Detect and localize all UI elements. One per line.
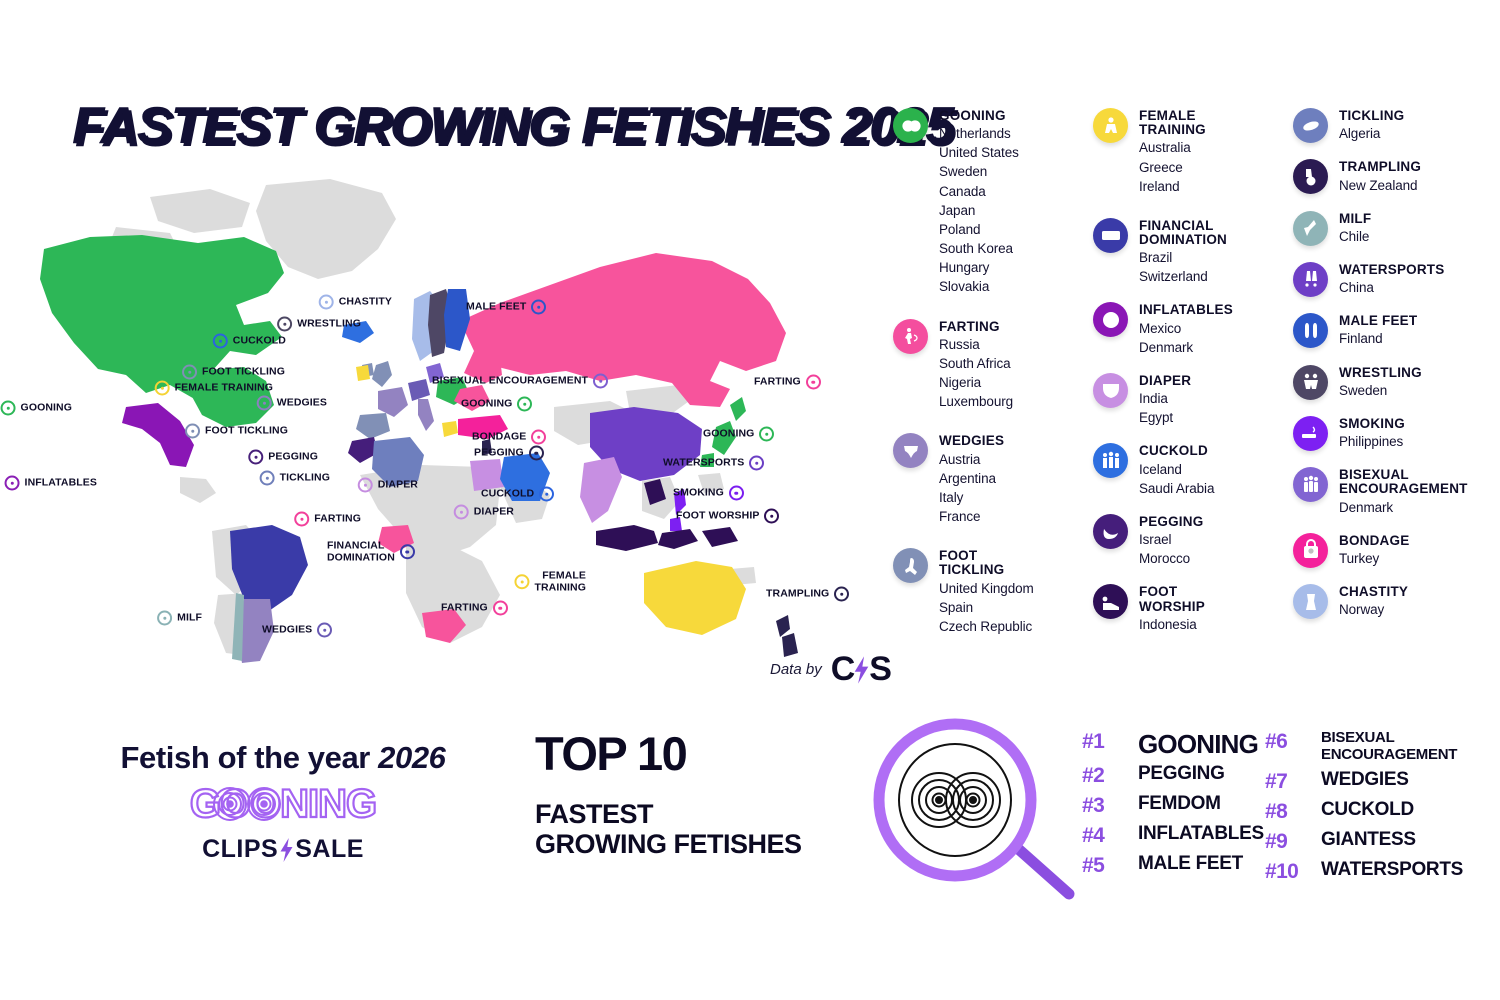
foot-worship-icon (1093, 584, 1128, 619)
map-label-text: DIAPER (474, 506, 514, 518)
ranking-label: GOONING (1138, 730, 1258, 759)
data-by-credit: Data by C S (770, 650, 891, 689)
map-pin-icon (317, 623, 332, 638)
legend-item-male-feet: MALE FEETFinland (1293, 313, 1493, 348)
fetish-of-the-year-block: Fetish of the year 2026 GOONING CLIPS SA… (48, 740, 518, 864)
map-pin-icon (358, 478, 373, 493)
ranking-row: #1GOONING (1082, 730, 1264, 759)
milf-icon (1293, 211, 1328, 246)
legend-item-body: SMOKINGPhilippines (1339, 416, 1405, 451)
map-pin-icon (759, 427, 774, 442)
legend-item-body: FARTINGRussiaSouth AfricaNigeriaLuxembou… (939, 319, 1013, 412)
map-label-text: FARTING (441, 602, 488, 614)
legend-item-countries: IcelandSaudi Arabia (1139, 460, 1214, 498)
lightning-bolt-icon (853, 656, 870, 684)
map-pin-icon (248, 450, 263, 465)
financial-domination-icon (1093, 218, 1128, 253)
foty-headline-year: 2026 (378, 740, 445, 775)
legend-country: Hungary (939, 258, 1019, 277)
map-pin-icon (749, 456, 764, 471)
legend-country: Sweden (1339, 381, 1422, 400)
smoking-icon (1293, 416, 1328, 451)
legend-country: Morocco (1139, 549, 1203, 568)
cuckold-icon (1093, 443, 1128, 478)
legend-item-countries: IsraelMorocco (1139, 530, 1203, 568)
legend-country: Ireland (1139, 177, 1206, 196)
legend-item-body: FOOTTICKLINGUnited KingdomSpainCzech Rep… (939, 548, 1034, 636)
ranking-number: #3 (1082, 794, 1124, 818)
inflatables-icon (1093, 302, 1128, 337)
magnifier-icon (855, 718, 1085, 908)
legend-item-bondage: BONDAGETurkey (1293, 533, 1493, 568)
legend-item-body: PEGGINGIsraelMorocco (1139, 514, 1203, 568)
legend-item-body: WEDGIESAustriaArgentinaItalyFrance (939, 433, 1004, 526)
top10-title: TOP 10 (535, 730, 802, 777)
map-label: FOOT TICKLING (182, 365, 285, 380)
region-mexico-inflatables (122, 403, 194, 467)
foty-headline-plain: Fetish of the year (120, 740, 378, 775)
map-pin-icon (593, 374, 608, 389)
pegging-icon (1093, 514, 1128, 549)
c4s-right: S (869, 650, 891, 689)
map-pin-icon (185, 424, 200, 439)
data-by-label: Data by (770, 661, 822, 678)
map-label: TICKLING (260, 471, 330, 486)
legend-item-countries: IndiaEgypt (1139, 389, 1191, 427)
ranking-number: #6 (1265, 730, 1307, 754)
legend-item-smoking: SMOKINGPhilippines (1293, 416, 1493, 451)
map-label: GOONING (1, 401, 72, 416)
legend-column-2: FEMALETRAININGAustraliaGreeceIrelandFINA… (1093, 108, 1283, 650)
map-pin-icon (400, 545, 415, 560)
legend-item-countries: Sweden (1339, 381, 1422, 400)
legend-item-title: BONDAGE (1339, 534, 1409, 548)
legend-item-title: PEGGING (1139, 515, 1203, 529)
legend-item-wedgies: WEDGIESAustriaArgentinaItalyFrance (893, 433, 1083, 526)
legend-item-title: INFLATABLES (1139, 303, 1233, 317)
map-label-text: MILF (177, 612, 202, 624)
svg-text:GOONING: GOONING (190, 782, 376, 826)
map-label-text: FOOT WORSHIP (676, 510, 759, 522)
legend-item-title: WATERSPORTS (1339, 263, 1444, 277)
legend-country: Turkey (1339, 549, 1409, 568)
legend-country: Greece (1139, 158, 1206, 177)
legend-item-countries: Chile (1339, 227, 1371, 246)
clips4sale-logo: CLIPS SALE (48, 835, 518, 864)
legend-country: Argentina (939, 469, 1004, 488)
map-pin-icon (493, 601, 508, 616)
map-label: MALE FEET (466, 300, 546, 315)
legend-country: Indonesia (1139, 615, 1205, 634)
legend-country: Chile (1339, 227, 1371, 246)
map-pin-icon (277, 317, 292, 332)
legend-country: Poland (939, 220, 1019, 239)
region-finland-malefeet (444, 289, 470, 351)
legend-country: Iceland (1139, 460, 1214, 479)
legend-item-title: TICKLING (1339, 109, 1404, 123)
legend-item-countries: NetherlandsUnited StatesSwedenCanadaJapa… (939, 124, 1019, 296)
map-label: FARTING (754, 375, 821, 390)
ranking-label: GIANTESS (1321, 830, 1416, 851)
ranking-row: #6BISEXUALENCOURAGEMENT (1265, 730, 1463, 764)
legend-item-foot-tickling: FOOTTICKLINGUnited KingdomSpainCzech Rep… (893, 548, 1083, 636)
legend-country: Slovakia (939, 277, 1019, 296)
ranking-label: CUCKOLD (1321, 800, 1414, 821)
map-pin-icon (529, 446, 544, 461)
map-label-text: TICKLING (280, 472, 330, 484)
map-label-text: FOOT TICKLING (202, 366, 285, 378)
legend-item-countries: Philippines (1339, 432, 1405, 451)
ranking-label: WATERSPORTS (1321, 860, 1463, 881)
legend-item-body: FOOTWORSHIPIndonesia (1139, 584, 1205, 634)
region-ireland-female-training (356, 365, 370, 381)
map-label: FOOT WORSHIP (676, 509, 779, 524)
legend-country: Czech Republic (939, 617, 1034, 636)
legend-country: United States (939, 143, 1019, 162)
map-pin-icon (729, 486, 744, 501)
bondage-icon (1293, 533, 1328, 568)
gooning-outline-text: GOONING (159, 781, 407, 829)
map-pin-icon (834, 587, 849, 602)
map-label: GOONING (461, 397, 532, 412)
map-pin-icon (764, 509, 779, 524)
ranking-label: FEMDOM (1138, 794, 1221, 815)
map-label-text: WRESTLING (297, 318, 361, 330)
legend-item-body: FEMALETRAININGAustraliaGreeceIreland (1139, 108, 1206, 196)
ranking-label: MALE FEET (1138, 854, 1243, 875)
legend-country: Mexico (1139, 319, 1233, 338)
ranking-number: #7 (1265, 770, 1307, 794)
map-pin-icon (294, 512, 309, 527)
diaper-icon (1093, 373, 1128, 408)
legend-item-milf: MILFChile (1293, 211, 1493, 246)
ranking-number: #1 (1082, 730, 1124, 754)
male-feet-icon (1293, 313, 1328, 348)
ranking-number: #8 (1265, 800, 1307, 824)
map-label-text: CUCKOLD (233, 335, 286, 347)
legend-item-trampling: TRAMPLINGNew Zealand (1293, 159, 1493, 194)
map-label: FOOT TICKLING (185, 424, 288, 439)
top10-heading-block: TOP 10 FASTEST GROWING FETISHES (535, 730, 802, 859)
map-label-text: CHASTITY (339, 296, 392, 308)
map-label-text: FINANCIALDOMINATION (327, 540, 395, 564)
top10-subtitle: FASTEST GROWING FETISHES (535, 799, 802, 859)
legend-item-cuckold: CUCKOLDIcelandSaudi Arabia (1093, 443, 1283, 497)
ranking-number: #5 (1082, 854, 1124, 878)
map-pin-icon (155, 381, 170, 396)
top10-ranking-left: #1GOONING#2PEGGING#3FEMDOM#4INFLATABLES#… (1082, 730, 1264, 884)
legend-country: Finland (1339, 329, 1417, 348)
map-pin-icon (5, 476, 20, 491)
ranking-number: #4 (1082, 824, 1124, 848)
map-label-text: FOOT TICKLING (205, 425, 288, 437)
c4s-left: C (831, 650, 855, 689)
foot-tickling-icon (893, 548, 928, 583)
map-label-text: WEDGIES (277, 397, 327, 409)
legend-country: India (1139, 389, 1191, 408)
map-label-text: FEMALE TRAINING (175, 382, 273, 394)
map-label-text: FARTING (314, 513, 361, 525)
ranking-label: BISEXUALENCOURAGEMENT (1321, 730, 1457, 764)
legend-item-countries: Denmark (1339, 498, 1468, 517)
map-label-text: WATERSPORTS (663, 457, 744, 469)
region-greece-female-training (442, 421, 458, 437)
legend-item-body: CHASTITYNorway (1339, 584, 1408, 619)
legend-country: South Africa (939, 354, 1013, 373)
legend-item-body: INFLATABLESMexicoDenmark (1139, 302, 1233, 356)
legend-item-body: TRAMPLINGNew Zealand (1339, 159, 1421, 194)
map-label-text: GOONING (21, 402, 72, 414)
legend-country: Canada (939, 182, 1019, 201)
legend-item-body: DIAPERIndiaEgypt (1139, 373, 1191, 427)
map-label: WEDGIES (262, 623, 332, 638)
map-label-text: WEDGIES (262, 624, 312, 636)
bisexual-encouragement-icon (1293, 467, 1328, 502)
legend-column-3: TICKLINGAlgeriaTRAMPLINGNew ZealandMILFC… (1293, 108, 1493, 635)
watersports-icon (1293, 262, 1328, 297)
legend-country: France (939, 507, 1004, 526)
legend-item-body: WRESTLINGSweden (1339, 365, 1422, 400)
wrestling-icon (1293, 365, 1328, 400)
map-label: FARTING (441, 601, 508, 616)
gooning-icon (893, 108, 928, 143)
map-pin-icon (157, 611, 172, 626)
top10-ranking-right: #6BISEXUALENCOURAGEMENT#7WEDGIES#8CUCKOL… (1265, 730, 1463, 890)
top10-subtitle-line2: GROWING FETISHES (535, 829, 802, 859)
ranking-row: #3FEMDOM (1082, 794, 1264, 818)
legend-item-farting: FARTINGRussiaSouth AfricaNigeriaLuxembou… (893, 319, 1083, 412)
trampling-icon (1293, 159, 1328, 194)
legend-item-title: TRAMPLING (1339, 160, 1421, 174)
map-label: GOONING (703, 427, 774, 442)
map-label-text: GOONING (461, 398, 512, 410)
ranking-number: #10 (1265, 860, 1307, 884)
map-label: TRAMPLING (766, 587, 849, 602)
map-label-text: PEGGING (268, 451, 318, 463)
legend-country: New Zealand (1339, 176, 1421, 195)
legend-country: Norway (1339, 600, 1408, 619)
legend-item-title: WRESTLING (1339, 366, 1422, 380)
legend-item-countries: RussiaSouth AfricaNigeriaLuxembourg (939, 335, 1013, 412)
map-label: WATERSPORTS (663, 456, 764, 471)
legend-item-wrestling: WRESTLINGSweden (1293, 365, 1493, 400)
top10-subtitle-line1: FASTEST (535, 799, 802, 829)
legend-item-title: FOOTTICKLING (939, 549, 1034, 577)
map-pin-icon (539, 487, 554, 502)
ranking-row: #7WEDGIES (1265, 770, 1463, 794)
map-label: WEDGIES (257, 396, 327, 411)
map-label: CUCKOLD (213, 334, 286, 349)
map-label: PEGGING (474, 446, 544, 461)
legend-item-countries: BrazilSwitzerland (1139, 248, 1227, 286)
legend-country: Egypt (1139, 408, 1191, 427)
farting-icon (893, 319, 928, 354)
world-map-svg (30, 175, 870, 665)
legend-country: Denmark (1139, 338, 1233, 357)
legend-item-title: BISEXUALENCOURAGEMENT (1339, 468, 1468, 496)
ranking-row: #8CUCKOLD (1265, 800, 1463, 824)
legend-item-countries: United KingdomSpainCzech Republic (939, 579, 1034, 636)
map-label: INFLATABLES (5, 476, 97, 491)
region-spain-foot-tickling (356, 413, 390, 439)
legend-item-title: WEDGIES (939, 434, 1004, 448)
legend-item-pegging: PEGGINGIsraelMorocco (1093, 514, 1283, 568)
map-label: MILF (157, 611, 202, 626)
map-pin-icon (531, 430, 546, 445)
map-label: PEGGING (248, 450, 318, 465)
legend-item-title: MALE FEET (1339, 314, 1417, 328)
legend-column-1: GOONINGNetherlandsUnited StatesSwedenCan… (893, 108, 1083, 658)
legend-item-watersports: WATERSPORTSChina (1293, 262, 1493, 297)
ranking-number: #2 (1082, 764, 1124, 788)
legend-item-title: FOOTWORSHIP (1139, 585, 1205, 613)
legend-item-body: BONDAGETurkey (1339, 533, 1409, 568)
map-pin-icon (213, 334, 228, 349)
legend-item-countries: Indonesia (1139, 615, 1205, 634)
legend-item-title: CUCKOLD (1139, 444, 1214, 458)
region-australia-female-training (644, 561, 746, 635)
legend-item-countries: Turkey (1339, 549, 1409, 568)
legend-country: Algeria (1339, 124, 1404, 143)
legend-item-title: FEMALETRAINING (1139, 109, 1206, 137)
legend-item-title: DIAPER (1139, 374, 1191, 388)
legend-country: Luxembourg (939, 392, 1013, 411)
legend-item-diaper: DIAPERIndiaEgypt (1093, 373, 1283, 427)
legend-country: Nigeria (939, 373, 1013, 392)
legend-country: Japan (939, 201, 1019, 220)
legend-item-body: CUCKOLDIcelandSaudi Arabia (1139, 443, 1214, 497)
legend-item-countries: AustriaArgentinaItalyFrance (939, 450, 1004, 527)
map-pin-icon (257, 396, 272, 411)
legend-country: Australia (1139, 138, 1206, 157)
map-pin-icon (1, 401, 16, 416)
map-label-text: BISEXUAL ENCOURAGEMENT (432, 375, 588, 387)
legend-item-title: CHASTITY (1339, 585, 1408, 599)
map-pin-icon (517, 397, 532, 412)
ranking-label: INFLATABLES (1138, 824, 1264, 845)
legend-item-body: WATERSPORTSChina (1339, 262, 1444, 297)
legend-country: United Kingdom (939, 579, 1034, 598)
map-label-text: GOONING (703, 428, 754, 440)
region-central-europe (408, 379, 430, 401)
legend-country: Denmark (1339, 498, 1468, 517)
clips-logo-right: SALE (295, 835, 364, 864)
map-label-text: CUCKOLD (481, 488, 534, 500)
legend-item-body: GOONINGNetherlandsUnited StatesSwedenCan… (939, 108, 1019, 297)
legend-item-title: SMOKING (1339, 417, 1405, 431)
map-pin-icon (806, 375, 821, 390)
map-label-text: PEGGING (474, 447, 524, 459)
map-label-text: FARTING (754, 376, 801, 388)
legend-item-female-training: FEMALETRAININGAustraliaGreeceIreland (1093, 108, 1283, 196)
legend-item-foot-worship: FOOTWORSHIPIndonesia (1093, 584, 1283, 634)
region-gooning-green (40, 235, 284, 427)
legend-item-bisexual-encouragement: BISEXUALENCOURAGEMENTDenmark (1293, 467, 1493, 517)
ranking-label: WEDGIES (1321, 770, 1409, 791)
legend-country: Austria (939, 450, 1004, 469)
legend-country: Sweden (939, 162, 1019, 181)
map-label: SMOKING (673, 486, 744, 501)
map-label-text: INFLATABLES (25, 477, 97, 489)
legend-item-countries: China (1339, 278, 1444, 297)
map-label: BONDAGE (472, 430, 546, 445)
legend-item-body: TICKLINGAlgeria (1339, 108, 1404, 143)
world-map: GOONINGINFLATABLESMILFWEDGIESFINANCIALDO… (30, 175, 870, 665)
legend-item-countries: MexicoDenmark (1139, 319, 1233, 357)
legend-country: Brazil (1139, 248, 1227, 267)
legend-country: Russia (939, 335, 1013, 354)
map-label-text: SMOKING (673, 487, 724, 499)
legend-item-countries: Algeria (1339, 124, 1404, 143)
tickling-icon (1293, 108, 1328, 143)
ranking-row: #5MALE FEET (1082, 854, 1264, 878)
legend-country: Italy (939, 488, 1004, 507)
wedgies-icon (893, 433, 928, 468)
map-label: WRESTLING (277, 317, 361, 332)
clips4sale-mark: C S (831, 650, 891, 689)
ranking-row: #4INFLATABLES (1082, 824, 1264, 848)
region-italy-wedgies (418, 399, 434, 431)
chastity-icon (1293, 584, 1328, 619)
legend-country: China (1339, 278, 1444, 297)
map-label: FINANCIALDOMINATION (327, 540, 415, 564)
clips-logo-left: CLIPS (202, 835, 278, 864)
infographic-canvas: FASTEST GROWING FETISHES 2025 (0, 0, 1500, 1000)
legend-item-gooning: GOONINGNetherlandsUnited StatesSwedenCan… (893, 108, 1083, 297)
map-label: DIAPER (454, 505, 514, 520)
ranking-label: PEGGING (1138, 764, 1225, 785)
map-label: FEMALETRAINING (514, 570, 586, 594)
map-label-text: DIAPER (378, 479, 418, 491)
legend-country: Spain (939, 598, 1034, 617)
map-pin-icon (260, 471, 275, 486)
legend-item-chastity: CHASTITYNorway (1293, 584, 1493, 619)
region-india-diaper (580, 457, 622, 523)
legend-country: Israel (1139, 530, 1203, 549)
legend-item-title: FARTING (939, 320, 1013, 334)
legend-item-title: GOONING (939, 109, 1019, 123)
legend-country: Philippines (1339, 432, 1405, 451)
region-france-wedgies (378, 387, 408, 417)
legend-item-inflatables: INFLATABLESMexicoDenmark (1093, 302, 1283, 356)
map-label-text: TRAMPLING (766, 588, 829, 600)
legend-country: Switzerland (1139, 267, 1227, 286)
legend-item-tickling: TICKLINGAlgeria (1293, 108, 1493, 143)
map-label: FARTING (294, 512, 361, 527)
fetish-of-the-year-headline: Fetish of the year 2026 (48, 740, 518, 776)
legend-country: South Korea (939, 239, 1019, 258)
map-pin-icon (514, 575, 529, 590)
map-pin-icon (319, 295, 334, 310)
legend-item-title: FINANCIALDOMINATION (1139, 219, 1227, 247)
map-label: FEMALE TRAINING (155, 381, 273, 396)
ranking-row: #2PEGGING (1082, 764, 1264, 788)
legend-item-countries: AustraliaGreeceIreland (1139, 138, 1206, 195)
map-label: BISEXUAL ENCOURAGEMENT (432, 374, 608, 389)
map-label-text: MALE FEET (466, 301, 526, 313)
map-label: CHASTITY (319, 295, 392, 310)
legend-item-financial-domination: FINANCIALDOMINATIONBrazilSwitzerland (1093, 218, 1283, 287)
page-title: FASTEST GROWING FETISHES 2025 (72, 100, 953, 152)
legend-country: Saudi Arabia (1139, 479, 1214, 498)
map-label-text: BONDAGE (472, 431, 526, 443)
ranking-row: #9GIANTESS (1265, 830, 1463, 854)
map-pin-icon (531, 300, 546, 315)
legend-item-body: BISEXUALENCOURAGEMENTDenmark (1339, 467, 1468, 517)
legend-item-body: MALE FEETFinland (1339, 313, 1417, 348)
legend-item-body: FINANCIALDOMINATIONBrazilSwitzerland (1139, 218, 1227, 287)
legend-item-countries: Norway (1339, 600, 1408, 619)
